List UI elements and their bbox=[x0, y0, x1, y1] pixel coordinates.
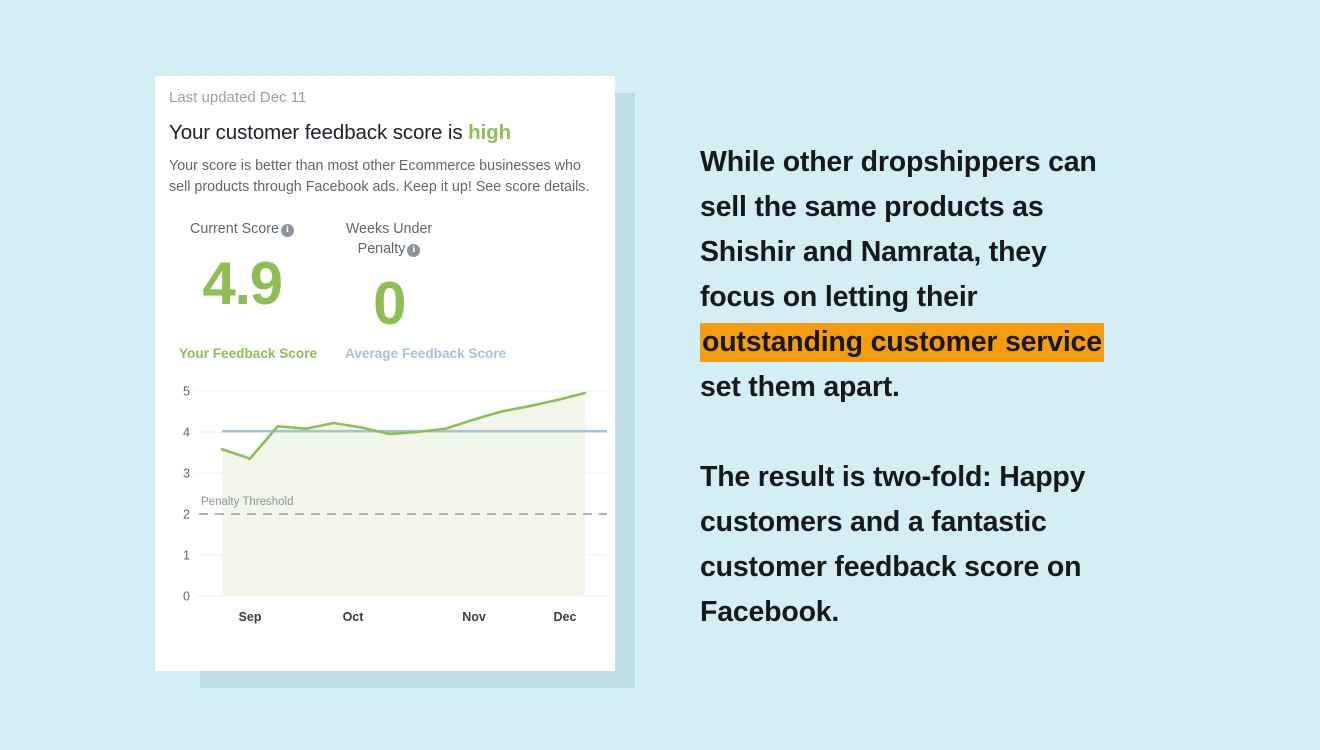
highlighted-text: outstanding customer service bbox=[700, 323, 1104, 362]
narrative-p1-highlight-line: outstanding customer service bbox=[700, 320, 1170, 365]
legend-item-your-feedback-score: Your Feedback Score bbox=[179, 345, 317, 363]
narrative-p1-line-3: Shishir and Namrata, they bbox=[700, 230, 1170, 275]
narrative-p2-line-2: customers and a fantastic bbox=[700, 500, 1170, 545]
narrative-p1-line-4: focus on letting their bbox=[700, 275, 1170, 320]
legend-item-average-feedback-score: Average Feedback Score bbox=[345, 345, 506, 363]
chart-area-fill bbox=[222, 393, 585, 596]
metric-current-score-label: Current Scorei bbox=[177, 219, 307, 239]
y-tick-label: 4 bbox=[183, 426, 190, 440]
narrative-p1-line-6: set them apart. bbox=[700, 365, 1170, 410]
feedback-card-stack: Last updated Dec 11 Your customer feedba… bbox=[155, 76, 635, 688]
x-tick-label: Oct bbox=[343, 610, 365, 624]
y-tick-label: 0 bbox=[183, 590, 190, 604]
penalty-threshold-label: Penalty Threshold bbox=[201, 496, 293, 508]
x-tick-label: Nov bbox=[462, 610, 486, 624]
customer-feedback-card: Last updated Dec 11 Your customer feedba… bbox=[155, 76, 615, 671]
x-tick-label: Dec bbox=[554, 610, 577, 624]
y-tick-label: 2 bbox=[183, 508, 190, 522]
metrics-row: Current Scorei 4.9 Weeks Under Penaltyi … bbox=[169, 219, 601, 339]
narrative-text: While other dropshippers can sell the sa… bbox=[700, 140, 1170, 635]
headline-prefix: Your customer feedback score is bbox=[169, 121, 468, 144]
narrative-p1-line-2: sell the same products as bbox=[700, 185, 1170, 230]
chart-x-axis-labels: SepOctNovDec bbox=[239, 610, 577, 624]
narrative-p2-line-4: Facebook. bbox=[700, 590, 1170, 635]
metric-weeks-under-penalty: Weeks Under Penaltyi 0 bbox=[319, 219, 459, 339]
metric-current-score-value: 4.9 bbox=[177, 249, 307, 319]
narrative-p2-line-3: customer feedback score on bbox=[700, 545, 1170, 590]
card-body-text: Your score is better than most other Eco… bbox=[169, 156, 601, 197]
metric-weeks-label-text-2: Penalty bbox=[358, 241, 406, 257]
feedback-score-chart-svg: 012345 SepOctNovDec Penalty Threshold bbox=[167, 377, 613, 627]
metric-weeks-label-line2: Penaltyi bbox=[319, 239, 459, 259]
metric-weeks-label-text-1: Weeks Under bbox=[346, 221, 432, 237]
chart-legend: Your Feedback Score Average Feedback Sco… bbox=[169, 345, 601, 363]
penalty-threshold-text: Penalty Threshold bbox=[201, 496, 293, 508]
metric-weeks-label-line1: Weeks Under bbox=[319, 219, 459, 239]
metric-current-score: Current Scorei 4.9 bbox=[177, 219, 307, 319]
narrative-p2-line-1: The result is two-fold: Happy bbox=[700, 455, 1170, 500]
info-icon[interactable]: i bbox=[407, 244, 420, 257]
y-tick-label: 5 bbox=[183, 385, 190, 399]
narrative-p1-line-1: While other dropshippers can bbox=[700, 140, 1170, 185]
chart-y-axis-labels: 012345 bbox=[183, 385, 190, 604]
info-icon[interactable]: i bbox=[281, 224, 294, 237]
feedback-score-chart: 012345 SepOctNovDec Penalty Threshold bbox=[167, 377, 613, 627]
headline-status-badge: high bbox=[468, 121, 511, 144]
narrative-paragraph-1: While other dropshippers can sell the sa… bbox=[700, 140, 1170, 410]
y-tick-label: 1 bbox=[183, 549, 190, 563]
page-title: Your customer feedback score is high bbox=[169, 120, 601, 146]
y-tick-label: 3 bbox=[183, 467, 190, 481]
score-area-fill bbox=[222, 393, 585, 596]
last-updated-text: Last updated Dec 11 bbox=[169, 88, 601, 108]
metric-weeks-under-penalty-value: 0 bbox=[319, 269, 459, 339]
x-tick-label: Sep bbox=[239, 610, 262, 624]
narrative-paragraph-2: The result is two-fold: Happy customers … bbox=[700, 455, 1170, 635]
metric-current-score-label-text: Current Score bbox=[190, 221, 279, 237]
